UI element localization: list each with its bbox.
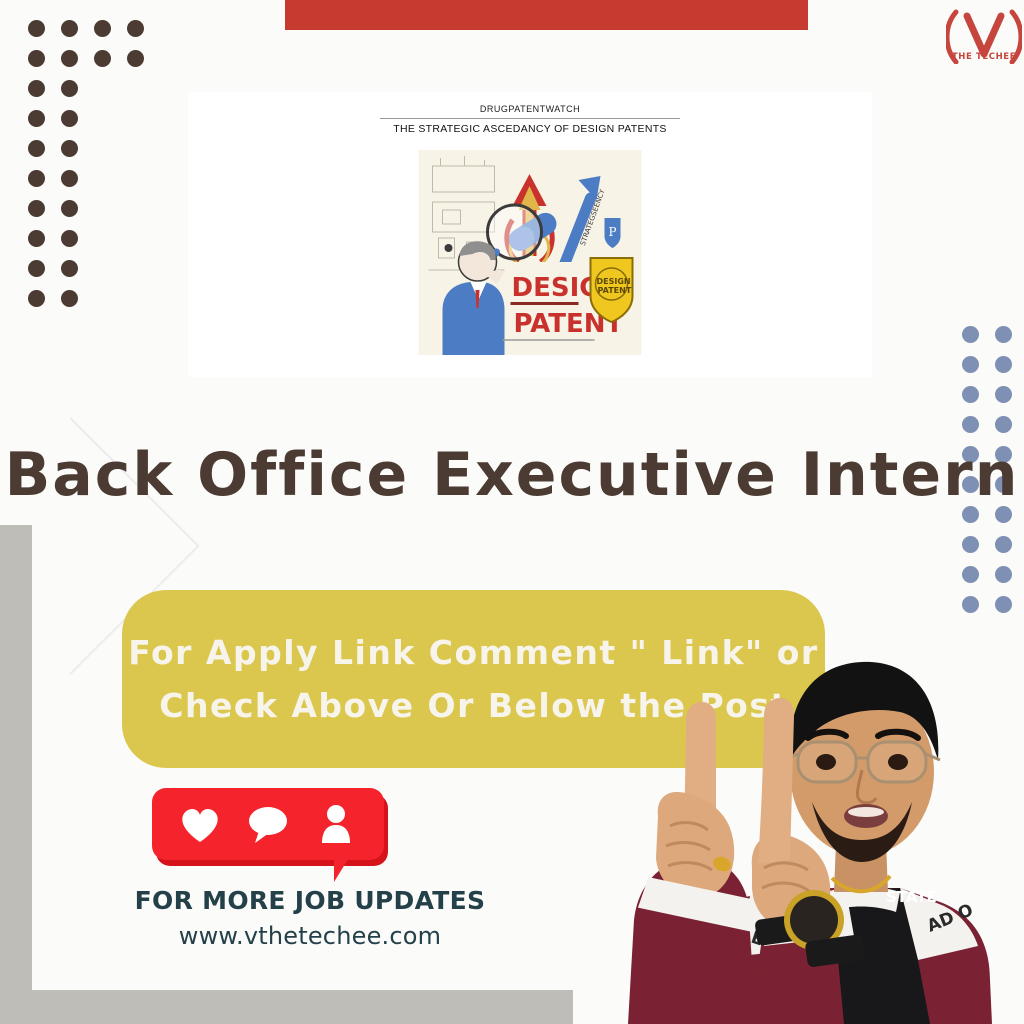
- decor-dot: [962, 326, 979, 343]
- decor-dot: [995, 326, 1012, 343]
- card-header: DRUGPATENTWATCH THE STRATEGIC ASCEDANCY …: [380, 104, 680, 135]
- decor-dot: [962, 536, 979, 553]
- decor-dot: [962, 566, 979, 583]
- heart-icon: [177, 803, 223, 845]
- page-title: Back Office Executive Intern: [0, 440, 1024, 510]
- decor-dot: [61, 50, 78, 67]
- decor-dot: [995, 416, 1012, 433]
- decor-dot: [995, 596, 1012, 613]
- decor-dot: [61, 170, 78, 187]
- decor-dot: [61, 80, 78, 97]
- decor-dot: [94, 50, 111, 67]
- decor-dot: [61, 200, 78, 217]
- featured-image-card: DRUGPATENTWATCH THE STRATEGIC ASCEDANCY …: [188, 92, 872, 377]
- svg-text:STATE: STATE: [886, 888, 937, 906]
- logo-wordmark: THE TECHEE: [946, 52, 1022, 62]
- poster-canvas: THE TECHEE DRUGPATENTWATCH THE STRATEGIC…: [0, 0, 1024, 1024]
- gray-band-horizontal: [0, 990, 573, 1024]
- svg-text:P: P: [609, 225, 617, 239]
- decor-dot: [995, 386, 1012, 403]
- decor-dot: [61, 110, 78, 127]
- decor-dot: [962, 596, 979, 613]
- gray-band-vertical: [0, 525, 32, 1024]
- svg-text:DESIGN: DESIGN: [597, 277, 631, 286]
- card-kicker: DRUGPATENTWATCH: [380, 104, 680, 114]
- decor-dot: [28, 260, 45, 277]
- design-patent-illustration: STRATEGSEENCY: [419, 150, 642, 355]
- decor-dot: [962, 416, 979, 433]
- decor-dot: [61, 260, 78, 277]
- decor-dot: [28, 20, 45, 37]
- footer-website: www.vthetechee.com: [100, 922, 520, 950]
- decor-dot: [995, 356, 1012, 373]
- card-divider: [380, 118, 680, 119]
- decor-dot: [28, 50, 45, 67]
- decor-dot: [995, 536, 1012, 553]
- follower-icon: [313, 803, 359, 845]
- decor-dot: [61, 140, 78, 157]
- decor-dot: [962, 386, 979, 403]
- badge-body: [152, 788, 384, 860]
- svg-text:PATENT: PATENT: [598, 286, 632, 295]
- decor-dot: [28, 200, 45, 217]
- comment-icon: [245, 803, 291, 845]
- decor-dot: [28, 290, 45, 307]
- decor-dot: [28, 140, 45, 157]
- decor-dot: [28, 110, 45, 127]
- decor-dot: [94, 20, 111, 37]
- decor-dot: [995, 566, 1012, 583]
- presenter-photo: EAD AD O STATE: [600, 620, 1024, 1024]
- footer-cta: FOR MORE JOB UPDATES: [100, 886, 520, 915]
- decor-dot: [28, 230, 45, 247]
- decor-dot: [127, 50, 144, 67]
- decor-dot: [61, 20, 78, 37]
- decor-dot: [61, 230, 78, 247]
- decor-dot: [61, 290, 78, 307]
- top-red-bar: [285, 0, 808, 30]
- card-title: THE STRATEGIC ASCEDANCY OF DESIGN PATENT…: [380, 123, 680, 135]
- decor-dot: [28, 80, 45, 97]
- decor-dot: [962, 356, 979, 373]
- decor-dot: [28, 170, 45, 187]
- brand-logo[interactable]: THE TECHEE: [946, 8, 1022, 78]
- decor-dot: [127, 20, 144, 37]
- social-engagement-badge: [152, 788, 384, 880]
